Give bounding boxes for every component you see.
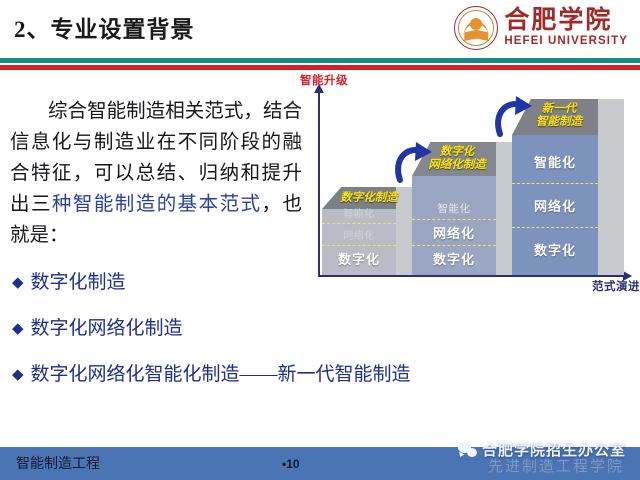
step-2-layer-intelligent: 智能化 (412, 198, 496, 219)
logo-name-en: HEFEI UNIVERSITY (504, 36, 628, 48)
list-item: ◆ 数字化网络化智能化制造——新一代智能制造 (12, 364, 632, 386)
step-1-caption: 数字化制造 (324, 192, 414, 205)
step-2-layer-digital: 数字化 (412, 245, 496, 271)
list-item: ◆ 数字化网络化制造 (12, 318, 632, 340)
list-item-label: 数字化网络化制造 (31, 318, 183, 340)
wechat-icon (458, 442, 477, 457)
step-1-layer-intelligent: 智能化 (322, 202, 396, 223)
footer-left-text: 智能制造工程 (16, 453, 100, 473)
step-3-front-face: 智能化 网络化 数字化 (512, 135, 598, 275)
step-3-layer-intelligent: 智能化 (512, 140, 598, 183)
y-axis-label: 智能升级 (300, 72, 348, 88)
step-3-layer-networked: 网络化 (512, 183, 598, 227)
header-rule-red (0, 65, 640, 70)
diamond-bullet-icon: ◆ (12, 364, 24, 386)
watermark-text: 合肥学院招生办公室 (482, 439, 626, 460)
curved-arrow-1-icon (392, 140, 436, 189)
list-item-label: 数字化网络化智能化制造——新一代智能制造 (31, 364, 411, 386)
staircase-diagram: 智能升级 范式演进 数字化制造 智能化 网络化 数字化 (296, 72, 640, 292)
step-3-side-face (598, 99, 624, 275)
logo-name-cn: 合肥学院 (504, 8, 612, 33)
university-logo: 合肥学院 HEFEI UNIVERSITY (454, 4, 628, 52)
page-number: •10 (282, 457, 300, 471)
step-3-layer-digital: 数字化 (512, 227, 598, 271)
step-1-layer-digital: 数字化 (322, 245, 396, 271)
body-paragraph: 综合智能制造相关范式，结合信息化与制造业在不同阶段的融合特征，可以总结、归纳和提… (10, 96, 302, 251)
x-axis-label: 范式演进 (592, 278, 640, 294)
y-axis (318, 92, 320, 277)
list-item-label: 数字化制造 (31, 272, 126, 294)
step-1-layer-networked: 网络化 (322, 223, 396, 245)
page-title: 2、专业设置背景 (14, 10, 195, 44)
x-axis (318, 275, 624, 277)
step-2-front-face: 智能化 网络化 数字化 (412, 176, 496, 275)
step-block-1: 数字化制造 智能化 网络化 数字化 (322, 187, 396, 275)
step-1-caption-line: 数字化制造 (324, 192, 414, 205)
step-1-front-face: 智能化 网络化 数字化 (322, 209, 396, 275)
hefei-university-emblem-icon (454, 6, 498, 50)
curved-arrow-2-icon (492, 94, 536, 143)
diamond-bullet-icon: ◆ (12, 272, 24, 294)
slide-root: 2、专业设置背景 合肥学院 HEFEI UNIVERSITY 综合智能制造相关范… (0, 0, 640, 480)
diamond-bullet-icon: ◆ (12, 318, 24, 340)
watermark: 合肥学院招生办公室 (458, 439, 626, 460)
paragraph-segment-highlight: 种智能制造的基本范式 (52, 194, 262, 215)
step-2-layer-networked: 网络化 (412, 219, 496, 245)
bullet-list: ◆ 数字化制造 ◆ 数字化网络化制造 ◆ 数字化网络化智能化制造——新一代智能制… (12, 272, 632, 410)
